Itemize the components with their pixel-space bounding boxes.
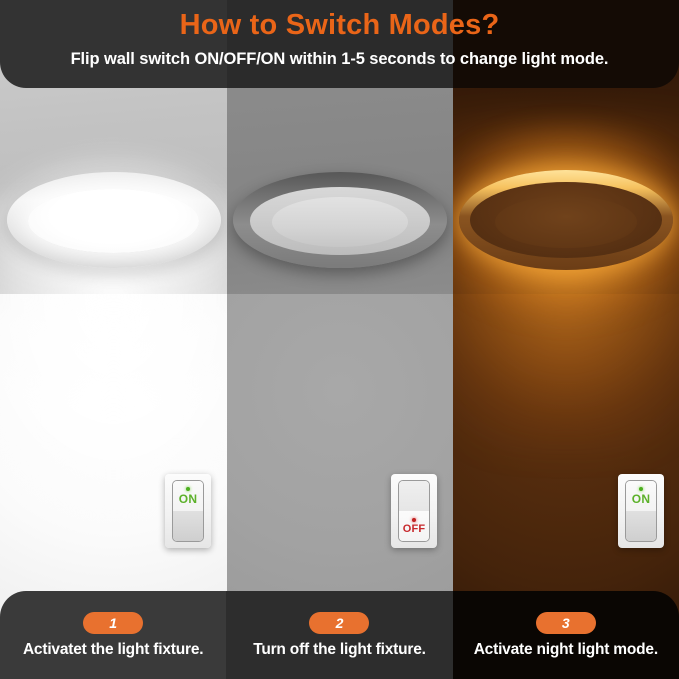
ceiling-lamp-nightlight bbox=[459, 170, 673, 270]
wall-switch-panel-1[interactable]: ON bbox=[165, 474, 211, 548]
rocker-top[interactable]: ON bbox=[626, 481, 656, 511]
panel-nightlight-mode bbox=[453, 0, 679, 679]
page-subtitle: Flip wall switch ON/OFF/ON within 1-5 se… bbox=[0, 50, 679, 69]
step-number-badge: 1 bbox=[83, 612, 143, 634]
rocker-toggle[interactable]: OFF bbox=[398, 480, 430, 542]
switch-label: ON bbox=[179, 493, 197, 505]
ceiling-lamp-bright bbox=[7, 172, 221, 268]
wall-switch-panel-2[interactable]: OFF bbox=[391, 474, 437, 548]
indicator-led-icon bbox=[412, 518, 416, 522]
wall-switch-panel-3[interactable]: ON bbox=[618, 474, 664, 548]
switch-label: OFF bbox=[403, 524, 426, 535]
rocker-bottom[interactable] bbox=[173, 511, 203, 541]
lamp-diffuser-lit bbox=[28, 189, 199, 252]
steps-footer: 1 Activatet the light fixture. 2 Turn of… bbox=[0, 591, 679, 679]
ceiling-lamp-off bbox=[233, 172, 447, 268]
page-title: How to Switch Modes? bbox=[0, 9, 679, 42]
step-item: 2 Turn off the light fixture. bbox=[226, 591, 452, 679]
step-caption: Activatet the light fixture. bbox=[23, 641, 203, 659]
rocker-toggle[interactable]: ON bbox=[625, 480, 657, 542]
step-item: 1 Activatet the light fixture. bbox=[0, 591, 226, 679]
step-number-badge: 2 bbox=[309, 612, 369, 634]
rocker-bottom[interactable]: OFF bbox=[399, 511, 429, 541]
switch-label: ON bbox=[632, 493, 650, 505]
step-caption: Activate night light mode. bbox=[474, 641, 658, 659]
rocker-top[interactable] bbox=[399, 481, 429, 511]
indicator-led-icon bbox=[186, 487, 190, 491]
indicator-led-icon bbox=[639, 487, 643, 491]
lamp-inner-disc bbox=[495, 196, 636, 248]
panel-off-mode bbox=[227, 0, 453, 679]
lamp-inner-disc bbox=[272, 197, 409, 247]
panel-bright-mode bbox=[0, 0, 227, 679]
how-to-switch-modes-infographic: ON OFF ON How to Switch Modes? Flip wall… bbox=[0, 0, 679, 679]
step-number-badge: 3 bbox=[536, 612, 596, 634]
rocker-top[interactable]: ON bbox=[173, 481, 203, 511]
rocker-toggle[interactable]: ON bbox=[172, 480, 204, 542]
step-item: 3 Activate night light mode. bbox=[453, 591, 679, 679]
rocker-bottom[interactable] bbox=[626, 511, 656, 541]
step-caption: Turn off the light fixture. bbox=[253, 641, 426, 659]
scene-strip bbox=[0, 0, 679, 679]
header-banner: How to Switch Modes? Flip wall switch ON… bbox=[0, 0, 679, 88]
